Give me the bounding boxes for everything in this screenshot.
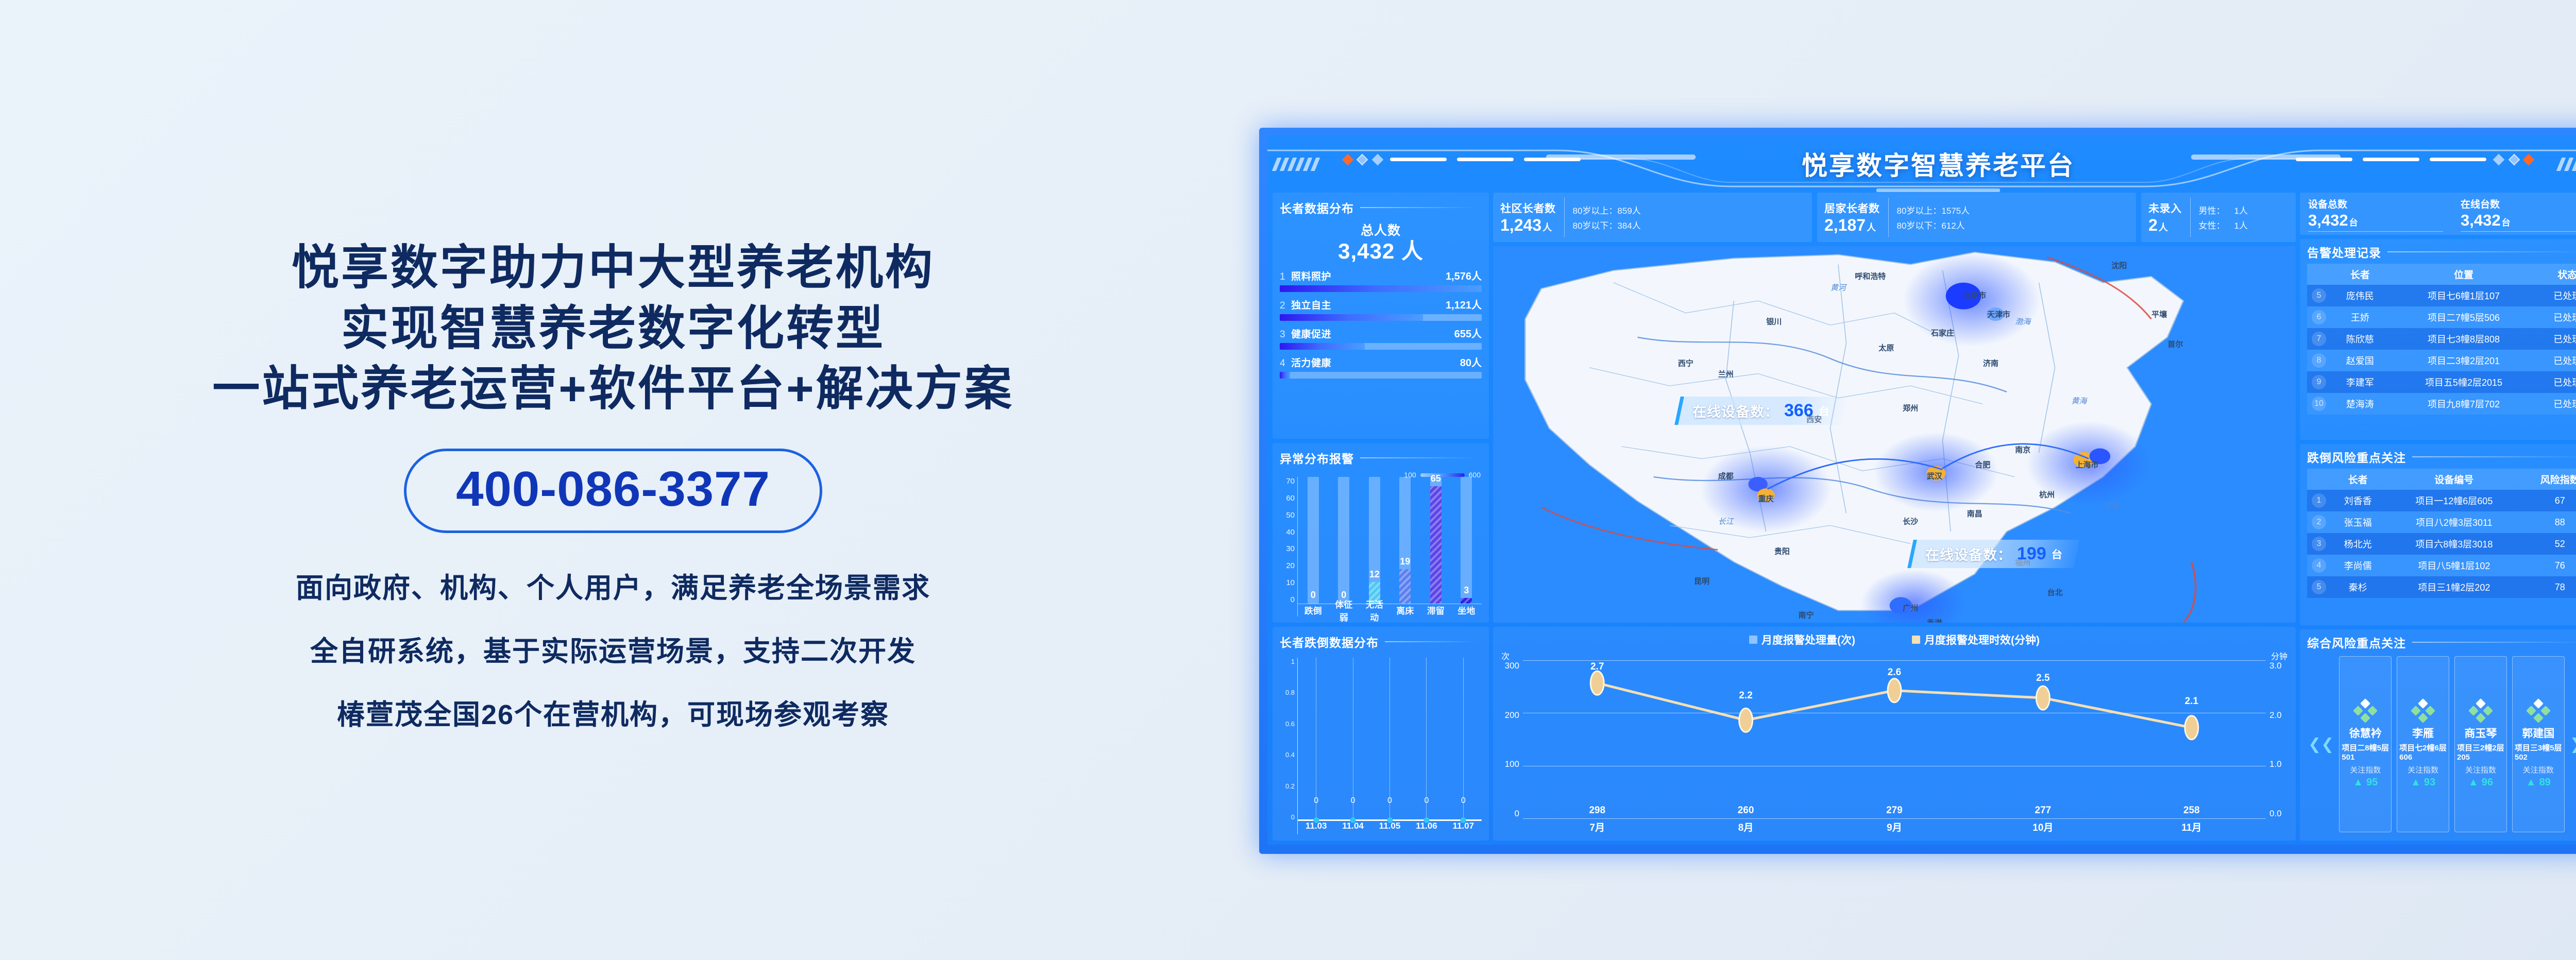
monthly-y-axis-left: 3002001000 — [1500, 661, 1523, 834]
table-cell-idx: 8 — [2307, 350, 2331, 371]
table-cell-score: 52 — [2523, 533, 2576, 555]
fall-risk-thead: 长者设备编号风险指数 — [2307, 469, 2576, 490]
bar-slot: 0 — [1301, 477, 1325, 604]
distribution-head: 1照料照护1,576人 — [1280, 268, 1482, 283]
device-online: 在线台数 3,432台 — [2461, 197, 2576, 232]
y2-tick: 0.0 — [2269, 809, 2289, 819]
column-header: 设备编号 — [2385, 469, 2523, 490]
table-row[interactable]: 4李尚儒项目八5幢1层10276 — [2307, 555, 2576, 576]
distribution-name: 独立自主 — [1291, 298, 1331, 312]
table-cell-loc: 项目七6幢1层107 — [2389, 285, 2538, 306]
triangle-up-icon: ▲ — [2411, 777, 2421, 788]
map-city-label: 香港 — [1927, 617, 1942, 623]
table-row[interactable]: 7陈欣慈项目七3幢8层808已处理 — [2307, 328, 2576, 350]
table-cell-idx: 7 — [2307, 328, 2331, 350]
abnormal-alarm-title: 异常分布报警 — [1280, 449, 1354, 467]
table-cell-dev: 项目三1幢2层202 — [2385, 576, 2523, 598]
table-cell-idx: 1 — [2307, 490, 2331, 511]
table-row[interactable]: 5庞伟民项目七6幢1层107已处理 — [2307, 285, 2576, 306]
fall-risk-title-row: 跌倒风险重点关注 — [2307, 448, 2576, 466]
map-city-label: 成都 — [1718, 470, 1734, 481]
dash-left-3 — [1524, 158, 1581, 161]
table-row[interactable]: 8赵爱国项目二3幢2层201已处理 — [2307, 350, 2576, 371]
map-badge-1-unit: 台 — [1819, 403, 1829, 419]
table-cell-status: 已处理 — [2538, 285, 2576, 306]
kpi-unit: 人 — [1543, 222, 1552, 233]
risk-diamonds-icon — [2527, 700, 2550, 723]
distribution-value: 655人 — [1454, 325, 1482, 340]
table-cell-score: 67 — [2523, 490, 2576, 511]
map-city-label: 西宁 — [1678, 357, 1693, 368]
device-total-rule — [2308, 231, 2443, 232]
map-city-label: 东海 — [2104, 501, 2119, 511]
table-row[interactable]: 5秦杉项目三1幢2层20278 — [2307, 576, 2576, 598]
table-cell-dev: 项目六8幢3层3018 — [2385, 533, 2523, 555]
y-tick: 40 — [1280, 528, 1295, 537]
risk-card-index-label: 关注指数 — [2523, 764, 2554, 775]
distribution-row: 1照料照护1,576人 — [1280, 268, 1482, 292]
device-online-label: 在线台数 — [2461, 197, 2576, 211]
headline-line-2: 实现智慧养老数字化转型 — [212, 299, 1013, 359]
map-city-label: 郑州 — [1903, 403, 1918, 414]
panel-fall-distribution: 长者跌倒数据分布 10.80.60.40.20 00000 11.0311.04… — [1273, 627, 1489, 841]
overall-risk-cards: 徐慧衿项目二8幢5层501关注指数▲95李雁项目七2幢6层606关注指数▲93商… — [2339, 656, 2564, 832]
kpi-sub-1: 80岁以上：1575人 — [1897, 203, 1970, 216]
risk-card[interactable]: 李雁项目七2幢6层606关注指数▲93 — [2397, 656, 2449, 832]
table-cell-idx: 2 — [2307, 511, 2331, 533]
map-city-label: 长江 — [1718, 516, 1734, 526]
table-row[interactable]: 9李建军项目五5幢2层2015已处理 — [2307, 371, 2576, 393]
map-city-label: 上海市 — [2075, 459, 2098, 470]
panel-alarm-records: 告警处理记录 长者位置状态 5庞伟民项目七6幢1层107已处理6王娇项目二7幢5… — [2300, 239, 2576, 440]
map-graphic-icon — [1493, 246, 2296, 623]
kpi-main: 居家长者数2,187人 — [1824, 200, 1880, 235]
y-tick: 0.8 — [1280, 689, 1295, 696]
map-city-label: 重庆 — [1758, 493, 1774, 504]
distribution-value: 1,121人 — [1446, 297, 1482, 312]
monthly-legend-line-label: 月度报警处理时效(分钟) — [1924, 632, 2040, 647]
distribution-index: 2 — [1280, 300, 1291, 312]
table-cell-name: 赵爱国 — [2331, 350, 2389, 371]
left-column: 长者数据分布 总人数 3,432 人 1照料照护1,576人2独立自主1,121… — [1273, 193, 1489, 841]
y-tick: 70 — [1280, 477, 1295, 486]
title-rule — [1360, 457, 1477, 458]
kpi-value: 1,243人 — [1500, 216, 1556, 235]
x-tick: 7月 — [1545, 820, 1649, 834]
distribution-value: 80人 — [1460, 354, 1482, 369]
dashboard-body: 长者数据分布 总人数 3,432 人 1照料照护1,576人2独立自主1,121… — [1267, 193, 2576, 845]
alarm-records-table: 长者位置状态 5庞伟民项目七6幢1层107已处理6王娇项目二7幢5层506已处理… — [2307, 264, 2576, 415]
risk-diamonds-icon — [2411, 700, 2435, 723]
distribution-index: 1 — [1280, 271, 1291, 283]
dashboard-title: 悦享数字智慧养老平台 — [1802, 145, 2075, 182]
risk-card-score: ▲93 — [2411, 777, 2435, 788]
bar-label: 12 — [1369, 569, 1380, 580]
monthly-y-right-unit: 分钟 — [2271, 649, 2287, 662]
legend-square-line-icon — [1912, 636, 1920, 644]
alarm-records-title-row: 告警处理记录 — [2307, 243, 2576, 261]
china-map[interactable]: 沈阳呼和浩特北京市天津市石家庄银川太原济南西宁兰州郑州西安南京合肥上海市成都武汉… — [1493, 246, 2296, 623]
fall-plot-area: 00000 11.0311.0411.0511.0611.07 — [1297, 658, 1482, 834]
phone-cta-button[interactable]: 400-086-3377 — [404, 449, 822, 533]
table-cell-score: 78 — [2523, 576, 2576, 598]
fall-chart: 10.80.60.40.20 00000 11.0311.0411.0511.0… — [1280, 654, 1482, 834]
kpi-card: 未录入2人男性：1人女性：1人 — [2141, 193, 2296, 242]
table-cell-loc: 项目七3幢8层808 — [2389, 328, 2538, 350]
device-total-value: 3,432台 — [2308, 211, 2443, 230]
map-city-label: 南昌 — [1967, 508, 1982, 519]
risk-card-name: 商玉琴 — [2464, 725, 2497, 741]
table-cell-idx: 3 — [2307, 533, 2331, 555]
title-rule — [2412, 642, 2576, 643]
abnormal-title-row: 异常分布报警 — [1280, 449, 1482, 467]
table-cell-dev: 项目一12幢6层605 — [2385, 490, 2523, 511]
x-tick: 11.07 — [1452, 821, 1474, 834]
map-city-label: 济南 — [1983, 357, 1998, 368]
kpi-card: 社区长者数1,243人80岁以上：859人80岁以下：384人 — [1493, 193, 1812, 242]
table-cell-idx: 5 — [2307, 285, 2331, 306]
overall-risk-title-row: 综合风险重点关注 — [2307, 633, 2576, 651]
column-header: 风险指数 — [2523, 469, 2576, 490]
row-index-badge: 9 — [2312, 375, 2326, 389]
map-city-label: 沈阳 — [2111, 260, 2127, 270]
table-cell-name: 李建军 — [2331, 371, 2389, 393]
monthly-legend-bar: 月度报警处理量(次) — [1749, 632, 1855, 647]
kpi-main: 未录入2人 — [2148, 200, 2182, 235]
triangle-up-icon: ▲ — [2353, 777, 2363, 788]
bar-value: 65 — [1430, 486, 1442, 604]
risk-card-location: 项目二8幢5层501 — [2342, 742, 2389, 762]
map-city-label: 平壤 — [2151, 308, 2167, 319]
title-rule — [2412, 456, 2576, 457]
kpi-label: 居家长者数 — [1824, 200, 1880, 216]
fall-risk-table: 长者设备编号风险指数 1刘香香项目一12幢6层605672张玉福项目八2幢3层3… — [2307, 469, 2576, 598]
fall-risk-title: 跌倒风险重点关注 — [2307, 448, 2406, 466]
kpi-main: 社区长者数1,243人 — [1500, 200, 1556, 235]
fall-distribution-title: 长者跌倒数据分布 — [1280, 633, 1379, 650]
row-index-badge: 10 — [2312, 397, 2326, 411]
bar-slot: 12 — [1363, 477, 1386, 604]
kpi-sub-1: 80岁以上：859人 — [1573, 203, 1641, 216]
bar-background — [1308, 477, 1319, 604]
bar-label: 65 — [1431, 473, 1441, 484]
alarm-records-tbody: 5庞伟民项目七6幢1层107已处理6王娇项目二7幢5层506已处理7陈欣慈项目七… — [2307, 285, 2576, 415]
table-cell-status: 已处理 — [2538, 393, 2576, 415]
monthly-chart: 次 分钟 3002001000 298260279277258 7月8月9月10… — [1500, 647, 2289, 834]
abnormal-chart: 706050403020100 001219653 跌倒体征弱无活动离床滞留坐地 — [1280, 470, 1482, 616]
map-city-label: 渤海 — [2015, 316, 2030, 327]
alarm-records-title: 告警处理记录 — [2307, 243, 2381, 261]
risk-card-score: ▲96 — [2468, 777, 2493, 788]
table-cell-score: 88 — [2523, 511, 2576, 533]
table-cell-score: 76 — [2523, 555, 2576, 576]
middle-column: 社区长者数1,243人80岁以上：859人80岁以下：384人居家长者数2,18… — [1493, 193, 2296, 841]
risk-card-name: 徐慧衿 — [2349, 725, 2382, 741]
distribution-index: 3 — [1280, 329, 1291, 340]
monthly-y-left-unit: 次 — [1501, 649, 1510, 662]
y-tick: 0 — [1280, 813, 1295, 821]
column-header: 长者 — [2331, 469, 2385, 490]
table-cell-name: 张玉福 — [2331, 511, 2385, 533]
row-index-badge: 6 — [2312, 310, 2326, 324]
headline-block: 悦享数字助力中大型养老机构 实现智慧养老数字化转型 一站式养老运营+软件平台+解… — [212, 238, 1013, 420]
monthly-line-label: 2.7 — [1590, 661, 1604, 673]
distribution-bar-fill — [1280, 343, 1365, 350]
y-tick: 300 — [1500, 661, 1519, 671]
row-index-badge: 5 — [2312, 288, 2326, 303]
table-cell-name: 王娇 — [2331, 306, 2389, 328]
y-tick: 0.2 — [1280, 782, 1295, 790]
kpi-value: 2,187人 — [1824, 216, 1880, 235]
table-cell-idx: 4 — [2307, 555, 2331, 576]
distribution-head: 3健康促进655人 — [1280, 325, 1482, 340]
table-row[interactable]: 2张玉福项目八2幢3层301188 — [2307, 511, 2576, 533]
panel-monthly-alarm: 月度报警处理量(次) 月度报警处理时效(分钟) 次 分钟 3002001000 — [1493, 627, 2296, 841]
table-row[interactable]: 6王娇项目二7幢5层506已处理 — [2307, 306, 2576, 328]
table-cell-status: 已处理 — [2538, 371, 2576, 393]
distribution-value: 1,576人 — [1446, 268, 1482, 283]
data-label: 0 — [1461, 796, 1466, 805]
kpi-unit: 人 — [2159, 222, 2168, 233]
y-tick: 20 — [1280, 561, 1295, 570]
map-city-label: 太原 — [1878, 342, 1894, 353]
x-tick: 体征弱 — [1332, 597, 1355, 623]
device-total-unit: 台 — [2349, 218, 2358, 228]
bar-slot: 3 — [1454, 477, 1478, 604]
y-tick: 0.6 — [1280, 720, 1295, 728]
legend-square-bar-icon — [1749, 636, 1757, 644]
map-city-label: 北京市 — [1963, 290, 1986, 301]
map-city-label: 南京 — [2015, 444, 2030, 455]
risk-card[interactable]: 徐慧衿项目二8幢5层501关注指数▲95 — [2339, 656, 2392, 832]
bar-label: 0 — [1311, 590, 1316, 601]
device-online-value: 3,432台 — [2461, 211, 2576, 230]
map-badge-online-366: 在线设备数： 366 台 — [1674, 397, 1846, 425]
y2-tick: 3.0 — [2269, 661, 2289, 671]
kpi-label: 未录入 — [2148, 200, 2182, 216]
distribution-row: 3健康促进655人 — [1280, 325, 1482, 350]
elder-distribution-title-row: 长者数据分布 — [1280, 199, 1482, 216]
carousel-prev-icon[interactable]: ❮❮ — [2308, 735, 2334, 753]
fall-x-axis: 11.0311.0411.0511.0611.07 — [1298, 821, 1482, 834]
abnormal-x-axis: 跌倒体征弱无活动离床滞留坐地 — [1298, 604, 1482, 616]
x-tick: 8月 — [1694, 820, 1798, 834]
risk-diamonds-icon — [2469, 700, 2493, 723]
distribution-index: 4 — [1280, 358, 1291, 369]
distribution-bar-track — [1280, 285, 1482, 292]
risk-card-location: 项目七2幢6层606 — [2399, 742, 2447, 762]
map-badge-1-label: 在线设备数： — [1692, 401, 1779, 421]
kpi-card: 居家长者数2,187人80岁以上：1575人80岁以下：612人 — [1817, 193, 2136, 242]
dashboard-screen: 悦享数字智慧养老平台 长者数据分布 总人数 3,432 人 — [1267, 135, 2576, 845]
abnormal-bars: 001219653 — [1298, 477, 1482, 604]
dashboard-header: 悦享数字智慧养老平台 — [1267, 135, 2576, 193]
bar-background — [1338, 477, 1349, 604]
y-tick: 0 — [1500, 809, 1519, 819]
device-online-unit: 台 — [2502, 218, 2511, 228]
title-rule — [2387, 251, 2576, 252]
distribution-bar-fill — [1280, 285, 1482, 292]
x-tick: 11.06 — [1416, 821, 1437, 834]
table-cell-name: 秦杉 — [2331, 576, 2385, 598]
x-tick: 11.03 — [1306, 821, 1327, 834]
map-city-label: 澳门 — [1878, 621, 1894, 623]
distribution-bar-track — [1280, 372, 1482, 379]
kpi-sub-group: 男性：1人女性：1人 — [2199, 203, 2248, 231]
row-index-badge: 2 — [2312, 515, 2326, 529]
panel-fall-risk: 跌倒风险重点关注 长者设备编号风险指数 1刘香香项目一12幢6层605672张玉… — [2300, 444, 2576, 625]
kpi-unit: 人 — [1867, 222, 1876, 233]
monthly-line-label: 2.2 — [1739, 690, 1752, 701]
monthly-line-label: 2.1 — [2185, 696, 2198, 707]
kpi-sub-2: 女性：1人 — [2199, 218, 2248, 231]
distribution-head: 4活力健康80人 — [1280, 354, 1482, 369]
y2-tick: 1.0 — [2269, 759, 2289, 769]
marketing-subtext: 面向政府、机构、个人用户，满足养老全场景需求 全自研系统，基于实际运营场景，支持… — [296, 565, 930, 732]
map-city-label: 石家庄 — [1931, 328, 1954, 338]
overall-risk-title: 综合风险重点关注 — [2307, 633, 2406, 651]
table-row[interactable]: 10楚海涛项目九8幢7层702已处理 — [2307, 393, 2576, 415]
data-label: 0 — [1351, 796, 1355, 805]
abnormal-y-axis: 706050403020100 — [1280, 477, 1297, 616]
bar-value: 19 — [1399, 569, 1411, 604]
kpi-value: 2人 — [2148, 216, 2182, 235]
table-cell-loc: 项目二3幢2层201 — [2389, 350, 2538, 371]
distribution-bar-fill — [1280, 372, 1290, 379]
distribution-bar-track — [1280, 343, 1482, 350]
table-header-row: 长者设备编号风险指数 — [2307, 469, 2576, 490]
map-city-label: 天津市 — [1987, 308, 2010, 319]
x-tick: 滞留 — [1424, 604, 1448, 616]
fall-risk-tbody: 1刘香香项目一12幢6层605672张玉福项目八2幢3层3011883杨北光项目… — [2307, 490, 2576, 598]
table-row[interactable]: 1刘香香项目一12幢6层60567 — [2307, 490, 2576, 511]
data-label: 0 — [1314, 796, 1318, 805]
distribution-name: 照料照护 — [1291, 269, 1331, 283]
triangle-up-icon: ▲ — [2526, 777, 2536, 788]
x-tick: 无活动 — [1363, 597, 1386, 623]
device-bezel: 悦享数字智慧养老平台 长者数据分布 总人数 3,432 人 — [1259, 128, 2576, 854]
monthly-legend-line: 月度报警处理时效(分钟) — [1912, 632, 2040, 647]
table-cell-loc: 项目九8幢7层702 — [2389, 393, 2538, 415]
x-tick: 10月 — [1991, 820, 2095, 834]
map-city-label: 合肥 — [1975, 459, 1990, 470]
row-index-badge: 5 — [2312, 580, 2326, 594]
distribution-row: 2独立自主1,121人 — [1280, 297, 1482, 321]
alarm-records-thead: 长者位置状态 — [2307, 264, 2576, 285]
bar-label: 3 — [1464, 585, 1469, 596]
y-tick: 1 — [1280, 658, 1295, 665]
header-ticks-left — [1275, 158, 1317, 171]
table-cell-status: 已处理 — [2538, 350, 2576, 371]
header-ticks-right — [2559, 158, 2576, 171]
x-tick: 11.04 — [1342, 821, 1364, 834]
dash-right-1 — [2430, 158, 2486, 161]
monthly-line-label: 2.5 — [2036, 673, 2049, 684]
table-cell-idx: 6 — [2307, 306, 2331, 328]
headline-line-1: 悦享数字助力中大型养老机构 — [212, 238, 1013, 299]
monthly-line-label: 2.6 — [1888, 667, 1901, 678]
column-header: 长者 — [2331, 264, 2389, 285]
elder-total-label: 总人数 — [1280, 220, 1482, 239]
table-cell-loc: 项目五5幢2层2015 — [2389, 371, 2538, 393]
kpi-separator — [1888, 198, 1889, 237]
monthly-x-axis: 7月8月9月10月11月 — [1523, 819, 2266, 834]
risk-diamonds-icon — [2353, 700, 2377, 723]
map-city-label: 长沙 — [1903, 516, 1918, 526]
monthly-y-axis-right: 3.02.01.00.0 — [2266, 661, 2289, 834]
table-cell-idx: 10 — [2307, 393, 2331, 415]
table-row[interactable]: 3杨北光项目六8幢3层301852 — [2307, 533, 2576, 555]
dash-right-3 — [2296, 158, 2352, 161]
distribution-bar-fill — [1280, 314, 1423, 321]
carousel-next-icon[interactable]: ❯❯ — [2570, 735, 2576, 753]
elder-total-value: 3,432 人 — [1280, 239, 1482, 264]
y-tick: 0 — [1280, 595, 1295, 604]
map-city-label: 兰州 — [1718, 369, 1734, 380]
y-tick: 100 — [1500, 759, 1519, 769]
table-cell-idx: 5 — [2307, 576, 2331, 598]
title-rule — [1385, 641, 1477, 642]
table-cell-dev: 项目八5幢1层102 — [2385, 555, 2523, 576]
overall-risk-carousel: ❮❮ 徐慧衿项目二8幢5层501关注指数▲95李雁项目七2幢6层606关注指数▲… — [2307, 654, 2576, 834]
map-city-label: 黄海 — [2071, 395, 2087, 406]
kpi-separator — [2190, 198, 2191, 237]
device-total: 设备总数 3,432台 — [2308, 197, 2443, 232]
column-header — [2307, 469, 2331, 490]
distribution-bar-track — [1280, 314, 1482, 321]
monthly-legend: 月度报警处理量(次) 月度报警处理时效(分钟) — [1500, 630, 2289, 647]
risk-card-index-label: 关注指数 — [2408, 764, 2438, 775]
risk-card[interactable]: 商玉琴项目三2幢2层205关注指数▲96 — [2454, 656, 2507, 832]
map-city-label: 昆明 — [1694, 576, 1709, 587]
map-city-label: 杭州 — [2039, 489, 2055, 500]
table-cell-status: 已处理 — [2538, 306, 2576, 328]
abnormal-plot: 001219653 跌倒体征弱无活动离床滞留坐地 — [1297, 477, 1482, 616]
row-index-badge: 8 — [2312, 353, 2326, 368]
elder-distribution-title: 长者数据分布 — [1280, 199, 1354, 216]
map-city-label: 南宁 — [1799, 610, 1814, 621]
dash-left-1 — [1390, 158, 1447, 161]
risk-card[interactable]: 郭建国项目三3幢5层502关注指数▲89 — [2512, 656, 2565, 832]
table-cell-status: 已处理 — [2538, 328, 2576, 350]
kpi-separator — [1564, 198, 1565, 237]
bar-slot: 19 — [1393, 477, 1417, 604]
map-badge-2-unit: 台 — [2052, 546, 2062, 562]
table-cell-name: 陈欣慈 — [2331, 328, 2389, 350]
risk-card-index-label: 关注指数 — [2350, 764, 2381, 775]
map-badge-online-199: 在线设备数： 199 台 — [1907, 540, 2079, 568]
map-badge-1-value: 366 — [1784, 401, 1814, 421]
dash-right-2 — [2363, 158, 2419, 161]
elder-distribution-list: 1照料照护1,576人2独立自主1,121人3健康促进655人4活力健康80人 — [1280, 268, 1482, 379]
map-city-label: 广州 — [1903, 602, 1918, 613]
kpi-sub-group: 80岁以上：859人80岁以下：384人 — [1573, 203, 1641, 231]
kpi-sub-group: 80岁以上：1575人80岁以下：612人 — [1897, 203, 1970, 231]
map-city-label: 武汉 — [1927, 470, 1942, 481]
table-cell-idx: 9 — [2307, 371, 2331, 393]
kpi-sub-2: 80岁以下：612人 — [1897, 218, 1970, 231]
y-tick: 60 — [1280, 494, 1295, 503]
risk-card-score: ▲95 — [2353, 777, 2378, 788]
x-tick: 跌倒 — [1301, 604, 1325, 616]
fall-title-row: 长者跌倒数据分布 — [1280, 633, 1482, 650]
row-index-badge: 7 — [2312, 332, 2326, 346]
bar-background — [1461, 477, 1472, 604]
fall-y-axis: 10.80.60.40.20 — [1280, 658, 1297, 834]
bar-slot: 0 — [1332, 477, 1355, 604]
kpi-strip: 社区长者数1,243人80岁以上：859人80岁以下：384人居家长者数2,18… — [1493, 193, 2296, 242]
map-city-label: 贵阳 — [1774, 546, 1790, 557]
